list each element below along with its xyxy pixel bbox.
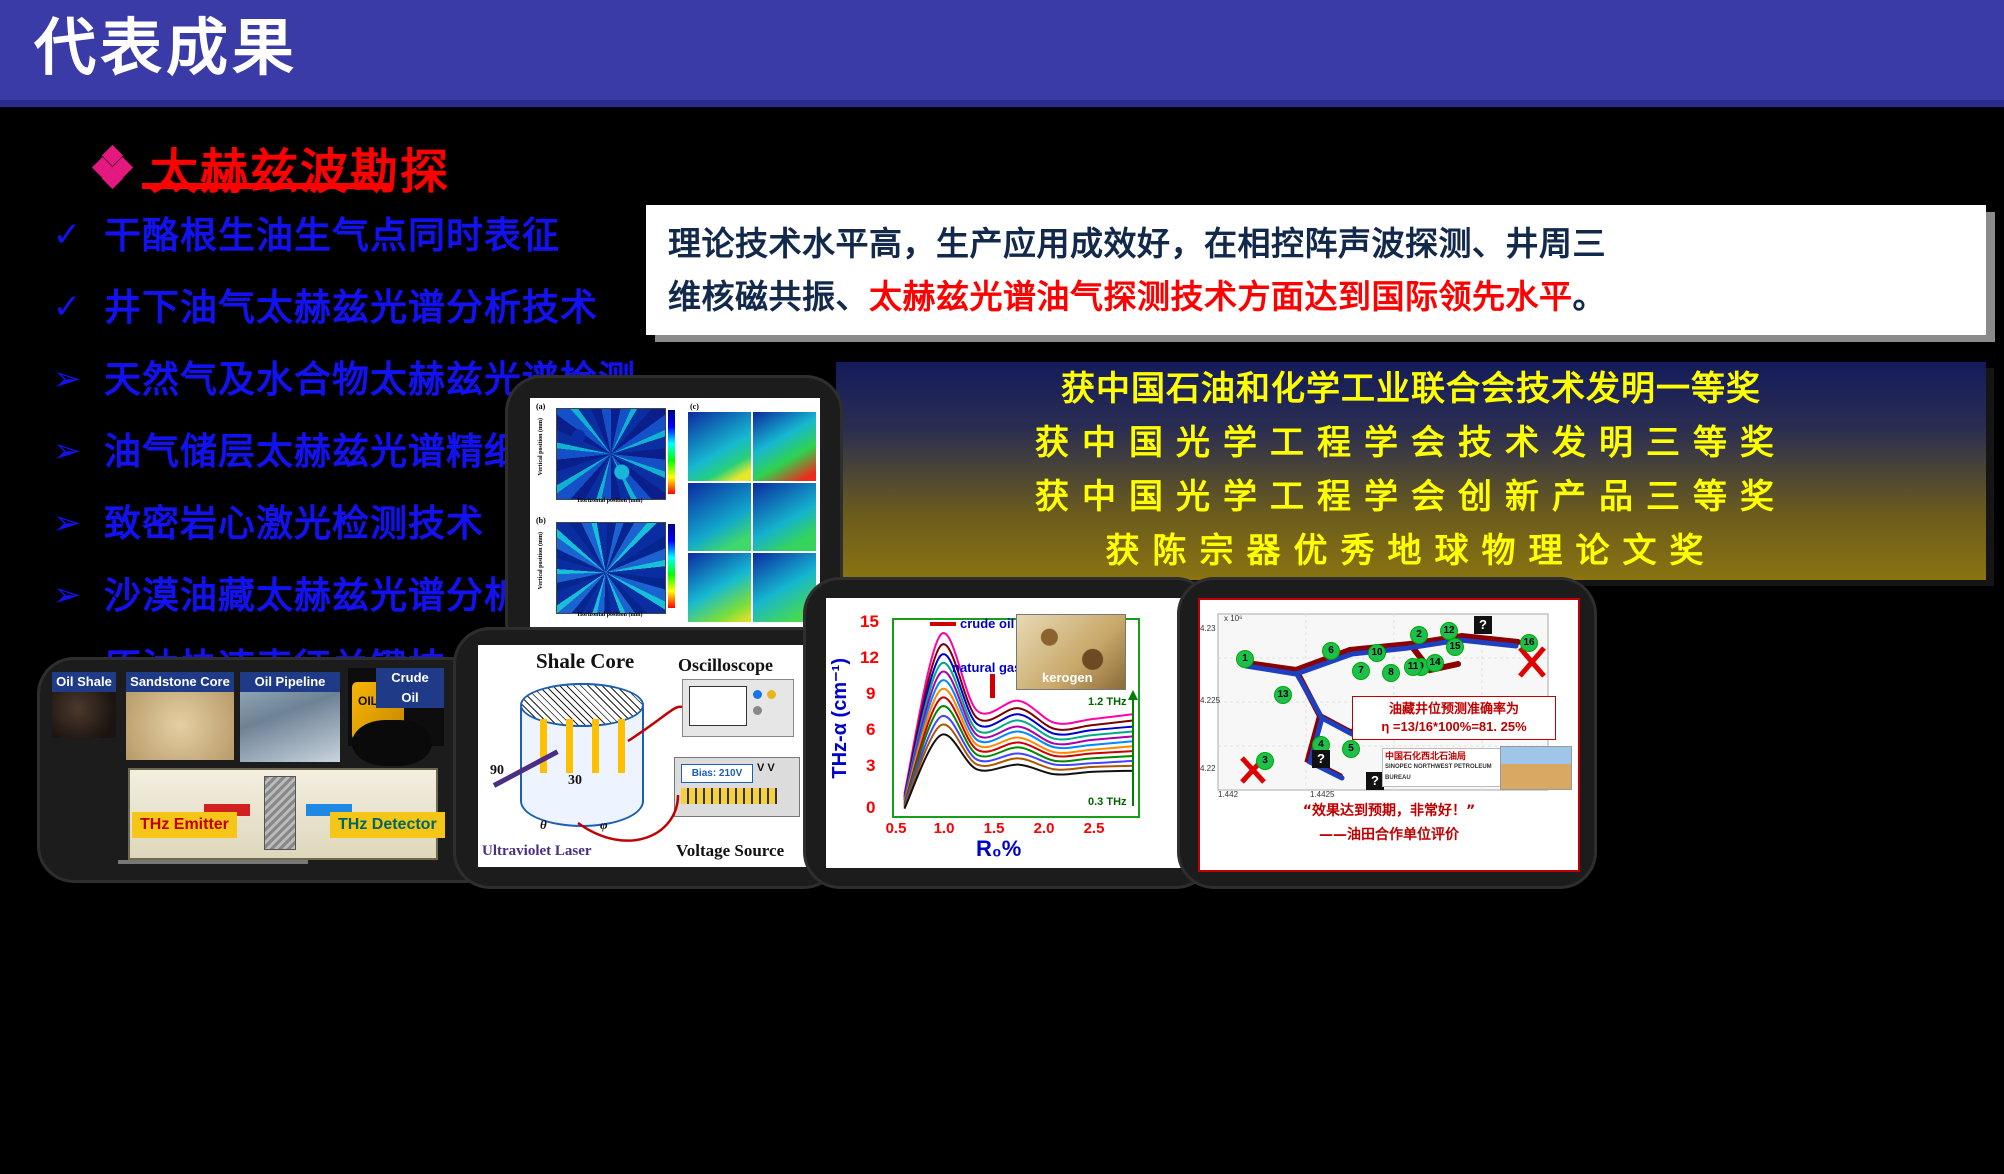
desert-photo [1500, 746, 1572, 790]
core-title: Shale Core [536, 649, 634, 674]
callout-line-1: 理论技术水平高，生产应用成效好，在相控阵声波探测、井周三 [668, 217, 1964, 270]
accuracy-note-line-1: 油藏井位预测准确率为 [1359, 700, 1549, 718]
thz-map-a-xlabel: Horizontal position (mm) [556, 498, 664, 504]
panel-tag-c: (c) [690, 402, 699, 411]
callout-line-2: 维核磁共振、太赫兹光谱油气探测技术方面达到国际领先水平。 [668, 270, 1964, 323]
voltage-source-label: Voltage Source [676, 841, 784, 861]
award-box: 获中国石油和化学工业联合会技术发明一等奖 获中国光学工程学会技术发明三等奖 获中… [836, 362, 1986, 580]
customer-quote-source: ——油田合作单位评价 [1200, 824, 1578, 844]
laser-label: Ultraviolet Laser [482, 843, 592, 860]
sample-label: Oil Shale [52, 672, 116, 692]
section-underline [142, 183, 390, 189]
thz-subplot-1 [688, 412, 751, 481]
core-bar-2 [566, 719, 573, 773]
core-bar-3 [592, 719, 599, 773]
bench-base [118, 860, 308, 864]
panel-tag-b: (b) [536, 516, 546, 525]
arrow-icon: ➢ [50, 428, 84, 474]
arrow-icon: ➢ [50, 572, 84, 618]
phi-label: φ [600, 817, 608, 833]
thz-detector-label: THz Detector [330, 812, 445, 838]
chart-xtick: 2.5 [1084, 820, 1105, 837]
award-item: 获中国光学工程学会技术发明三等奖 [836, 416, 1986, 470]
section-heading: 太赫兹波勘探 [96, 132, 450, 202]
angle-90-label: 90 [490, 763, 504, 779]
list-item-label: 沙漠油藏太赫兹光谱分析 [104, 572, 522, 620]
unknown-marker: ? [1474, 616, 1492, 634]
list-item-label: 干酪根生油生气点同时表征 [104, 212, 560, 260]
callout-line-2-plain: 维核磁共振、 [668, 277, 869, 316]
arrow-icon: ➢ [50, 356, 84, 402]
well-marker: 3 [1256, 752, 1274, 770]
thz-subplot-5 [688, 553, 751, 622]
page-title: 代表成果 [34, 8, 298, 88]
award-item: 获中国光学工程学会创新产品三等奖 [836, 470, 1986, 524]
oscilloscope-label: Oscilloscope [678, 655, 773, 676]
callout-line-2-tail: 。 [1573, 277, 1607, 316]
sample-thumb-oil-pipeline: Oil Pipeline [240, 672, 340, 762]
well-marker: 16 [1520, 634, 1538, 652]
sample-label: Oil Pipeline [240, 672, 340, 692]
thz-map-b-image [556, 522, 666, 614]
sample-label: Sandstone Core [126, 672, 234, 692]
oil-puddle-shape [352, 720, 432, 766]
annotation-0-3-thz: 0.3 THz [1088, 796, 1127, 808]
thz-map-b-ylabel: Vertical position (mm) [538, 532, 544, 589]
axis-ytick: 4.225 [1200, 696, 1220, 705]
diamond-bullet-icon [96, 150, 130, 184]
slide-header: 代表成果 [0, 0, 2004, 100]
well-marker: 8 [1382, 664, 1400, 682]
well-marker: 6 [1322, 642, 1340, 660]
bottom-spacer [24, 900, 1964, 1150]
chart-ylabel: THz-α (cm⁻¹) [828, 658, 852, 779]
thz-alpha-chart-panel: THz-α (cm⁻¹) 15 12 9 6 3 0 0.5 1.0 1.5 2… [826, 598, 1192, 868]
voltage-source-body: Bias: 210V V V [674, 757, 800, 817]
well-marker: 13 [1274, 686, 1292, 704]
core-diagram-panel: Shale Core 90 30 θ φ Ultraviolet Laser O… [478, 645, 816, 867]
list-item: ✓ 干酪根生油生气点同时表征 [50, 212, 670, 284]
thz-range-arrow [1126, 688, 1140, 808]
unknown-marker: ? [1312, 750, 1330, 768]
well-marker: 14 [1426, 654, 1444, 672]
annotation-natural-gas: natural gas [952, 660, 1021, 675]
chart-ytick: 0 [866, 798, 1192, 818]
thz-subplot-4 [753, 483, 816, 552]
accuracy-note-line-2: η =13/16*100%=81. 25% [1359, 718, 1549, 736]
core-bar-1 [540, 719, 547, 773]
check-icon: ✓ [50, 284, 84, 330]
customer-quote: “效果达到预期，非常好！” [1200, 800, 1578, 820]
natural-gas-arrow [990, 674, 995, 698]
chart-xtick: 2.0 [1034, 820, 1055, 837]
core-bar-4 [618, 719, 625, 773]
core-top-face [520, 683, 644, 727]
colorbar-b [668, 524, 675, 608]
well-marker: 1 [1236, 650, 1254, 668]
chart-ytick: 6 [866, 720, 1192, 740]
thz-map-b-xlabel: Horizontal position (mm) [556, 612, 664, 618]
thz-map-a-ylabel: Vertical position (mm) [538, 418, 544, 475]
oscilloscope-body [682, 679, 794, 737]
list-item-label: 致密岩心激光检测技术 [104, 500, 484, 548]
colorbar-a [668, 410, 675, 494]
well-marker: 2 [1410, 626, 1428, 644]
bureau-logo-block: 中国石化西北石油局 SINOPEC NORTHWEST PETROLEUM BU… [1382, 748, 1504, 787]
axis-xtick: 1.442 [1218, 790, 1238, 799]
theta-label: θ [540, 817, 547, 833]
thz-map-a-image [556, 408, 666, 500]
award-item: 获中国石油和化学工业联合会技术发明一等奖 [836, 362, 1986, 416]
annotation-1-2-thz: 1.2 THz [1088, 696, 1127, 708]
bureau-name-cn: 中国石化西北石油局 [1385, 751, 1501, 762]
annotation-kerogen: kerogen [1042, 670, 1093, 685]
well-marker: 7 [1352, 662, 1370, 680]
list-item: ✓ 井下油气太赫兹光谱分析技术 [50, 284, 670, 356]
axis-xtick: 1.4425 [1310, 790, 1334, 799]
accuracy-note: 油藏井位预测准确率为 η =13/16*100%=81. 25% [1352, 696, 1556, 740]
sample-thumb-oil-shale: Oil Shale [52, 672, 116, 738]
check-icon: ✓ [50, 212, 84, 258]
callout-line-2-highlight: 太赫兹光谱油气探测技术方面达到国际领先水平 [869, 277, 1573, 316]
sample-label: Crude Oil [376, 668, 444, 708]
chart-xtick: 1.0 [934, 820, 955, 837]
award-item: 获陈宗器优秀地球物理论文奖 [836, 524, 1986, 578]
thz-subplot-2 [753, 412, 816, 481]
header-divider [0, 100, 2004, 107]
list-item-label: 井下油气太赫兹光谱分析技术 [104, 284, 598, 332]
well-marker: 5 [1342, 740, 1360, 758]
well-marker: 10 [1368, 644, 1386, 662]
oscilloscope-screen [689, 686, 747, 726]
chart-xlabel: R₀% [976, 836, 1021, 862]
axis-ytick: 4.23 [1200, 624, 1216, 633]
thz-subplot-grid [688, 412, 816, 622]
well-marker: 15 [1446, 638, 1464, 656]
bias-readout: Bias: 210V [681, 764, 753, 783]
chart-ytick: 3 [866, 756, 1192, 776]
axis-exponent-label: x 10⁶ [1224, 614, 1242, 623]
well-map-panel: 1 2 3 4 5 6 7 8 9 10 11 12 13 14 15 16 ?… [1198, 598, 1580, 872]
thz-subplot-3 [688, 483, 751, 552]
bureau-name-en: SINOPEC NORTHWEST PETROLEUM BUREAU [1385, 762, 1501, 784]
panel-tag-a: (a) [536, 402, 545, 411]
thz-map-panel: (a) Horizontal position (mm) Vertical po… [530, 398, 820, 638]
section-title: 太赫兹波勘探 [150, 132, 450, 202]
chart-xtick: 1.5 [984, 820, 1005, 837]
slide-root: 代表成果 太赫兹波勘探 ✓ 干酪根生油生气点同时表征 ✓ 井下油气太赫兹光谱分析… [0, 0, 2004, 1174]
summary-callout: 理论技术水平高，生产应用成效好，在相控阵声波探测、井周三 维核磁共振、太赫兹光谱… [646, 205, 1986, 335]
axis-ytick: 4.22 [1200, 764, 1216, 773]
thz-emitter-label: THz Emitter [132, 812, 237, 838]
arrow-icon: ➢ [50, 500, 84, 546]
sample-slab [264, 776, 296, 850]
crude-oil-arrow [930, 622, 956, 626]
chart-xtick: 0.5 [886, 820, 907, 837]
annotation-crude-oil: crude oil [960, 616, 1014, 631]
well-marker: 11 [1404, 658, 1422, 676]
angle-30-label: 30 [568, 773, 582, 789]
sample-thumb-sandstone-core: Sandstone Core [126, 672, 234, 760]
